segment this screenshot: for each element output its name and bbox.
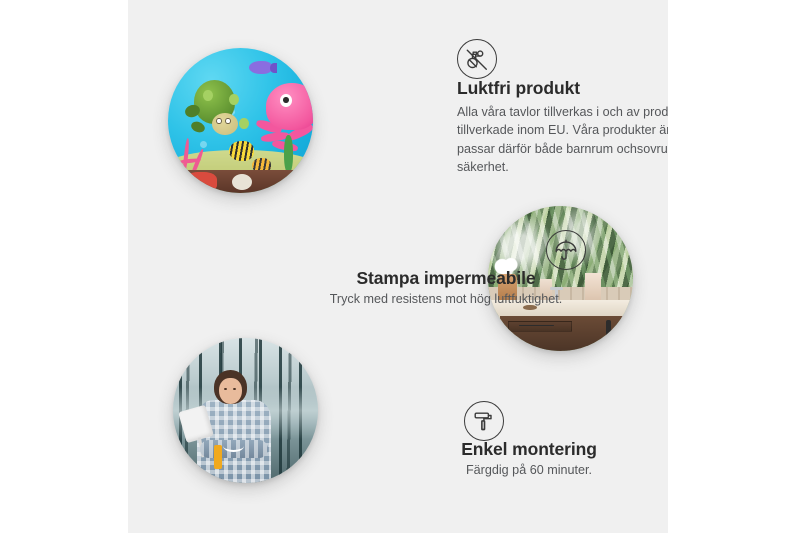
content-canvas: Luktfri produkt Alla våra tavlor tillver… xyxy=(128,0,668,533)
yellow-fish-illustration xyxy=(229,141,254,161)
wooden-vanity-cabinet xyxy=(500,316,633,351)
feature-heading: Stampa impermeabile xyxy=(296,268,596,289)
feature-heading: Enkel montering xyxy=(389,439,668,460)
face xyxy=(219,378,242,404)
paint-roller-icon xyxy=(464,401,504,441)
cabinet-handle xyxy=(606,320,611,335)
umbrella-icon xyxy=(546,230,586,270)
octopus-head xyxy=(266,83,313,130)
photo-bottom-strip xyxy=(168,170,313,193)
seaweed-illustration xyxy=(284,135,293,173)
feature-body: Färgdig på 60 minuter. xyxy=(389,463,668,477)
feature-body: Alla våra tavlor tillverkas i och av pro… xyxy=(457,103,668,177)
woman-with-paint-roller-photo xyxy=(173,338,318,483)
woman-figure xyxy=(193,370,274,483)
feature-waterproof-text: Stampa impermeabile Tryck med resistens … xyxy=(296,268,596,306)
hand-tool xyxy=(214,445,221,470)
product-feature-infographic: Luktfri produkt Alla våra tavlor tillver… xyxy=(0,0,800,533)
feature-odorless-text: Luktfri produkt Alla våra tavlor tillver… xyxy=(457,78,668,177)
sea-turtle-illustration xyxy=(185,80,243,135)
no-odor-spray-bottle-icon xyxy=(457,39,497,79)
purple-fish-illustration xyxy=(249,61,272,74)
feature-mounting-text: Enkel montering Färgdig på 60 minuter. xyxy=(389,439,668,477)
cabinet-handle xyxy=(625,320,630,335)
feature-heading: Luktfri produkt xyxy=(457,78,668,99)
drawer-handle xyxy=(519,325,554,326)
octopus-eye xyxy=(280,94,292,107)
feature-body: Tryck med resistens mot hög luftfuktighe… xyxy=(296,292,596,306)
smile xyxy=(223,440,244,452)
underwater-cartoon-photo xyxy=(168,48,313,193)
turtle-head xyxy=(212,113,238,135)
